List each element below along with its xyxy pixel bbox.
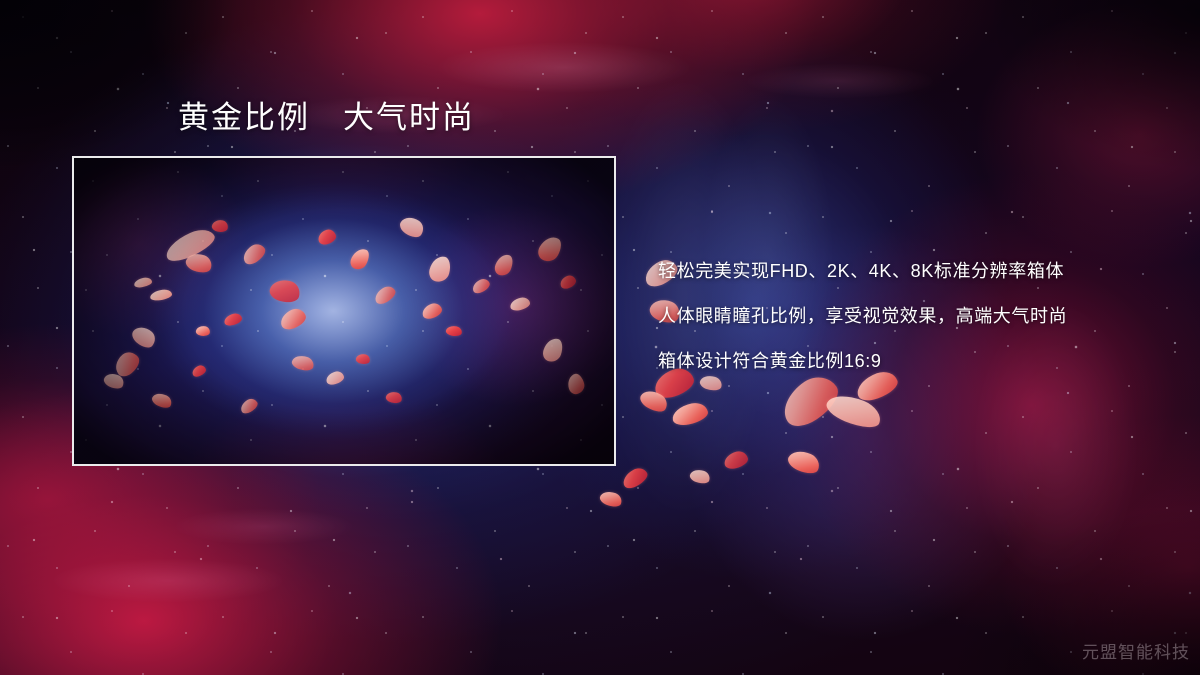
petal-shape [688, 467, 711, 486]
framed-product-image[interactable] [72, 156, 616, 466]
description-block: 轻松完美实现FHD、2K、4K、8K标准分辨率箱体 人体眼睛瞳孔比例，享受视觉效… [658, 249, 1178, 384]
description-line-3: 箱体设计符合黄金比例16:9 [658, 339, 1178, 384]
petal-shape [670, 400, 709, 427]
description-line-1: 轻松完美实现FHD、2K、4K、8K标准分辨率箱体 [658, 249, 1178, 294]
watermark-brand: 元盟智能科技 [1082, 638, 1190, 663]
slide-canvas: 黄金比例 大气时尚 轻松完美实现FHD、2K、4K、8K标准分辨率箱体 人体眼睛… [0, 0, 1200, 675]
petal-shape [722, 449, 749, 470]
page-title: 黄金比例 大气时尚 [178, 100, 475, 136]
petal-shape [598, 489, 623, 510]
description-line-2: 人体眼睛瞳孔比例，享受视觉效果，高端大气时尚 [658, 294, 1178, 339]
petal-shape [620, 465, 650, 491]
frame-vignette [74, 158, 614, 464]
petal-shape [785, 446, 822, 477]
